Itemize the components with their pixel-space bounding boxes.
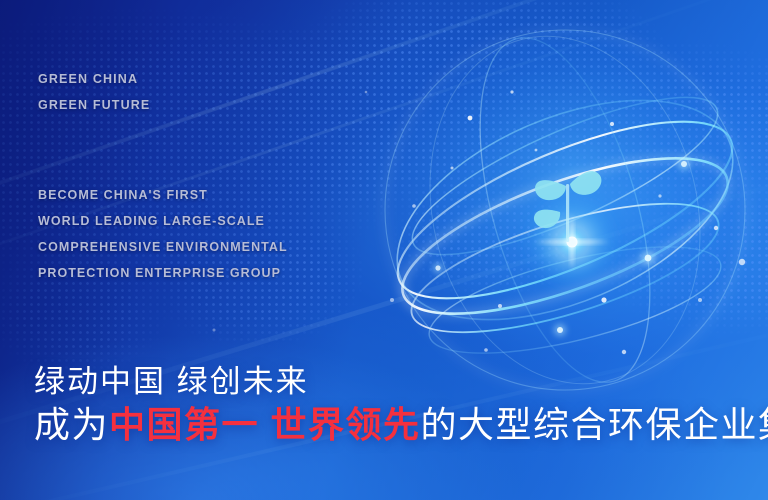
core-burst (526, 196, 618, 288)
headline-line-1: 绿动中国 绿创未来 (34, 362, 768, 402)
headline-line-2: 成为中国第一 世界领先的大型综合环保企业集团 (34, 402, 768, 448)
tagline-top-line-2: GREEN FUTURE (38, 92, 150, 118)
headline: 绿动中国 绿创未来 成为中国第一 世界领先的大型综合环保企业集团 (34, 362, 768, 448)
tagline-top: GREEN CHINA GREEN FUTURE (38, 66, 150, 118)
environmental-corporate-banner: GREEN CHINA GREEN FUTURE BECOME CHINA'S … (0, 0, 768, 500)
tagline-main-line-4: PROTECTION ENTERPRISE GROUP (38, 260, 288, 286)
tagline-main-line-2: WORLD LEADING LARGE-SCALE (38, 208, 288, 234)
tagline-top-line-1: GREEN CHINA (38, 66, 150, 92)
headline-suffix: 的大型综合环保企业集团 (421, 404, 768, 445)
headline-accent: 中国第一 世界领先 (109, 404, 421, 445)
tagline-main-line-3: COMPREHENSIVE ENVIRONMENTAL (38, 234, 288, 260)
tagline-main: BECOME CHINA'S FIRST WORLD LEADING LARGE… (38, 182, 288, 286)
tagline-main-line-1: BECOME CHINA'S FIRST (38, 182, 288, 208)
headline-prefix: 成为 (34, 404, 109, 445)
